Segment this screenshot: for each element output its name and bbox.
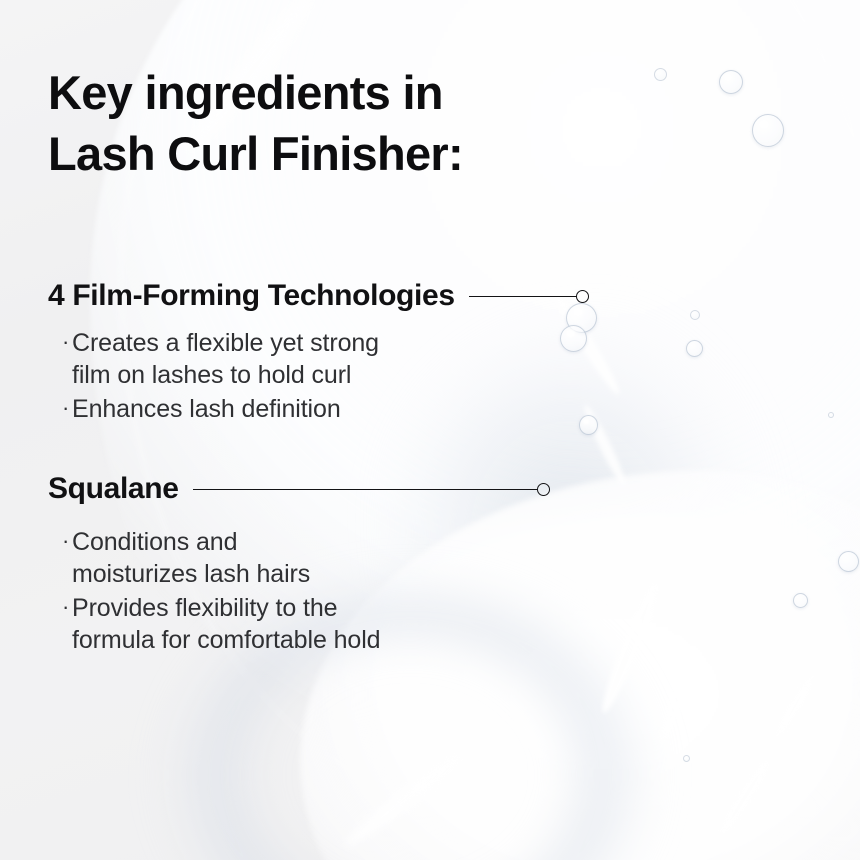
connector-line-with-circle-endpoint-icon (469, 290, 589, 303)
list-item: · Enhances lash definition (48, 393, 589, 425)
ingredient-header-row: Squalane (48, 468, 550, 510)
list-item: · Provides flexibility to the formula fo… (48, 592, 550, 657)
list-item: · Creates a flexible yet strong film on … (48, 327, 589, 392)
connector-circle-endpoint-icon (576, 290, 589, 303)
ingredient-benefit-list: · Creates a flexible yet strong film on … (48, 327, 589, 425)
ingredient-section: Squalane · Conditions and moisturizes la… (48, 468, 550, 657)
connector-line (469, 296, 577, 297)
ingredient-title: Squalane (48, 472, 179, 506)
infographic-canvas: Key ingredients in Lash Curl Finisher: 4… (0, 0, 860, 860)
bullet-dot-icon: · (48, 592, 72, 657)
list-item-label: Provides flexibility to the formula for … (72, 592, 380, 657)
list-item: · Conditions and moisturizes lash hairs (48, 526, 550, 591)
connector-line-with-circle-endpoint-icon (193, 483, 550, 496)
ingredient-header-row: 4 Film-Forming Technologies (48, 275, 589, 317)
page-title: Key ingredients in Lash Curl Finisher: (48, 62, 463, 184)
bullet-dot-icon: · (48, 526, 72, 591)
connector-circle-endpoint-icon (537, 483, 550, 496)
list-item-label: Enhances lash definition (72, 393, 341, 425)
ingredient-title: 4 Film-Forming Technologies (48, 279, 455, 313)
ingredient-benefit-list: · Conditions and moisturizes lash hairs … (48, 526, 550, 656)
list-item-label: Conditions and moisturizes lash hairs (72, 526, 310, 591)
list-item-label: Creates a flexible yet strong film on la… (72, 327, 379, 392)
content-layer: Key ingredients in Lash Curl Finisher: 4… (0, 0, 860, 860)
bullet-dot-icon: · (48, 327, 72, 392)
bullet-dot-icon: · (48, 393, 72, 425)
ingredient-section: 4 Film-Forming Technologies · Creates a … (48, 275, 589, 426)
connector-line (193, 489, 538, 490)
